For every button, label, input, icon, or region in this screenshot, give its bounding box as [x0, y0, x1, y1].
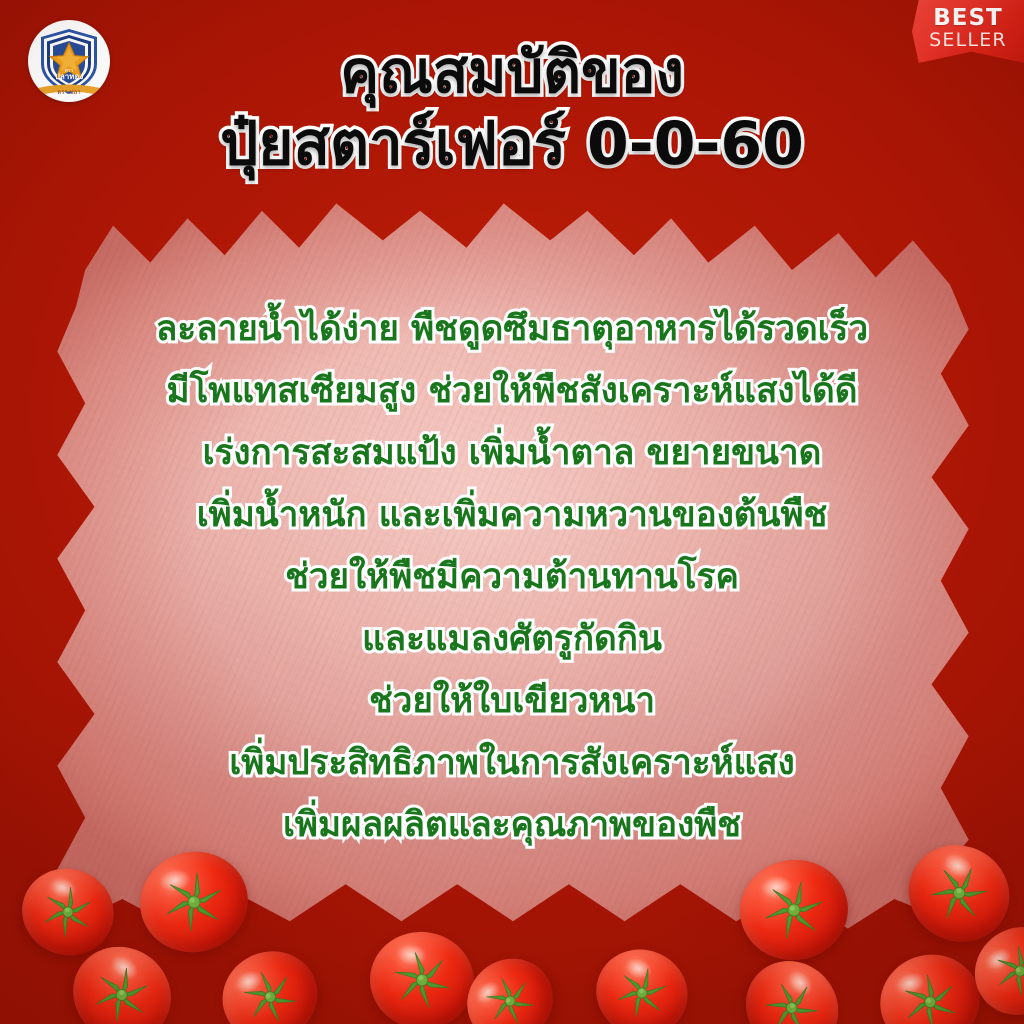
feature-line: เพิ่มน้ำหนัก และเพิ่มความหวานของต้นพืช — [0, 498, 1024, 533]
tomato-calyx-icon — [891, 962, 969, 1024]
feature-line: เพิ่มประสิทธิภาพในการสังเคราะห์แสง — [0, 746, 1024, 781]
tomato-calyx-icon — [605, 956, 679, 1024]
tomato-calyx-icon — [154, 863, 233, 942]
tomato-calyx-icon — [386, 944, 459, 1017]
title-line-1: คุณสมบัติของ — [0, 40, 1024, 105]
tomato-calyx-icon — [750, 966, 834, 1024]
tomato-calyx-icon — [981, 931, 1024, 1010]
feature-line: ละลายน้ำได้ง่าย พืชดูดซึมธาตุอาหารได้รวด… — [0, 312, 1024, 347]
badge-line-1: BEST — [933, 6, 1003, 30]
feature-line: มีโพแทสเซียมสูง ช่วยให้พืชสังเคราะห์แสงไ… — [0, 374, 1024, 409]
feature-line: เพิ่มผลผลิตและคุณภาพของพืช — [0, 808, 1024, 843]
tomato-calyx-icon — [32, 876, 104, 948]
tomato-calyx-icon — [756, 872, 832, 948]
feature-line: และแมลงศัตรูกัดกิน — [0, 622, 1024, 657]
feature-line: ช่วยให้พืชมีความต้านทานโรค — [0, 560, 1024, 595]
tomato-calyx-icon — [472, 962, 549, 1024]
feature-line: ช่วยให้ใบเขียวหนา — [0, 684, 1024, 719]
feature-line: เร่งการสะสมแป้ง เพิ่มน้ำตาล ขยายขนาด — [0, 436, 1024, 471]
poster-title: คุณสมบัติของ ปุ๋ยสตาร์เฟอร์ 0-0-60 — [0, 40, 1024, 178]
tomato-calyx-icon — [79, 951, 165, 1024]
title-line-2: ปุ๋ยสตาร์เฟอร์ 0-0-60 — [0, 111, 1024, 178]
tomato-calyx-icon — [916, 851, 1002, 937]
promo-poster: ตรา ปลาทอง ตรา ปลา BEST SELLER คุณสมบัติ… — [0, 0, 1024, 1024]
feature-list: ละลายน้ำได้ง่าย พืชดูดซึมธาตุอาหารได้รวด… — [0, 312, 1024, 843]
tomato-calyx-icon — [230, 957, 309, 1024]
